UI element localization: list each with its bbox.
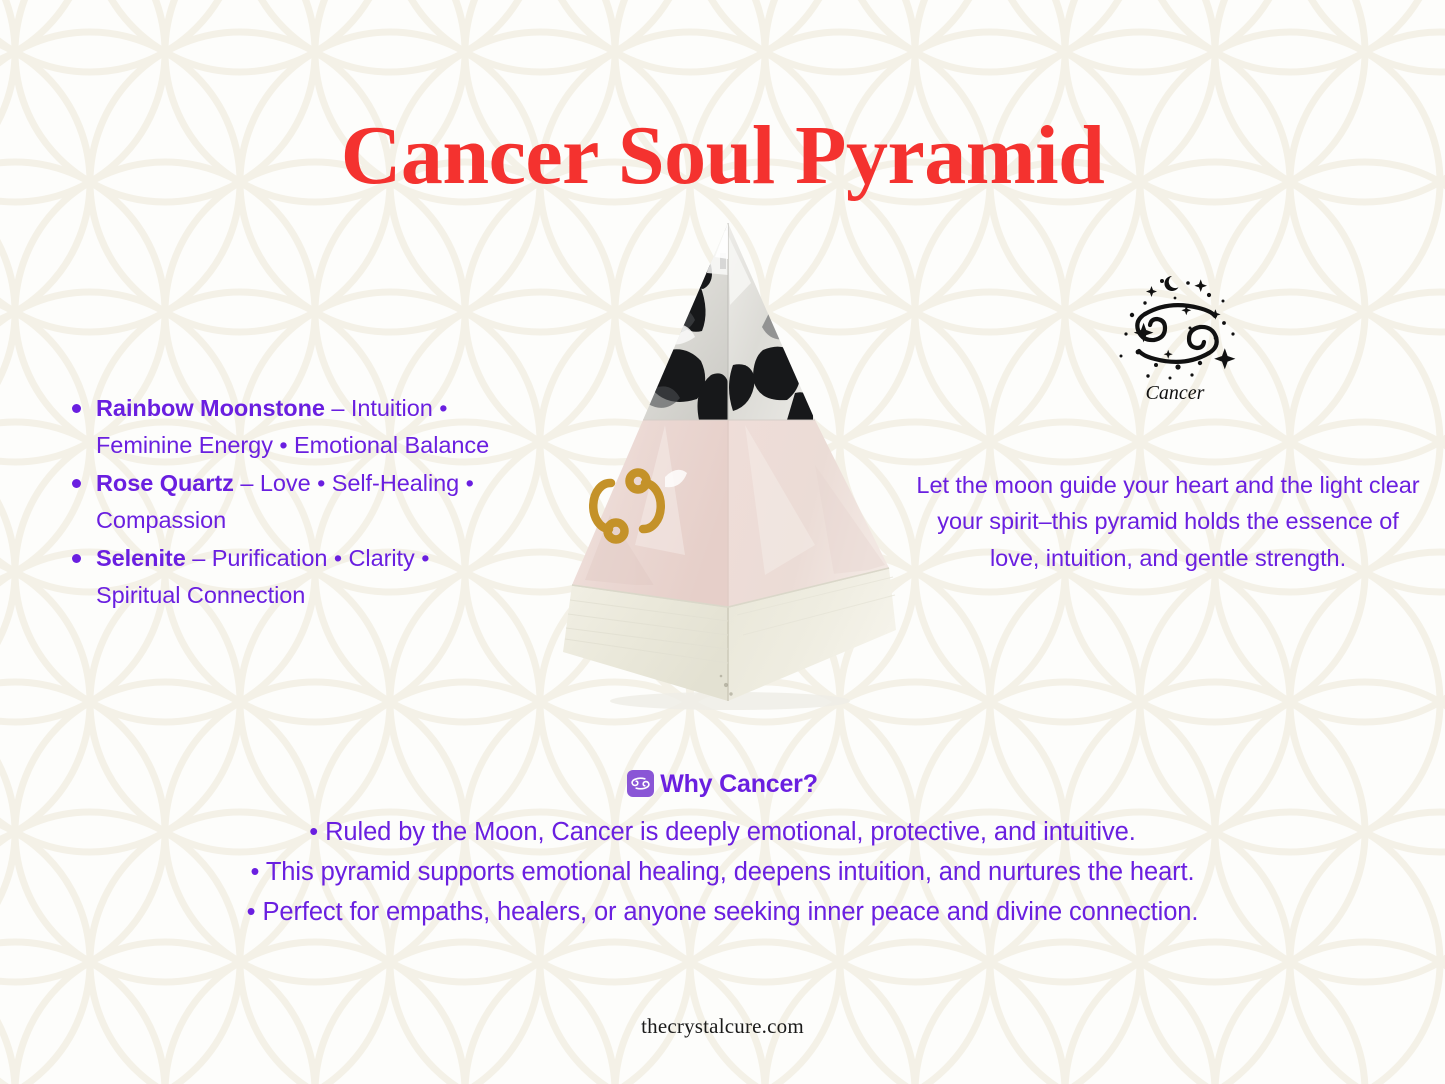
intro-paragraph: Let the moon guide your heart and the li… bbox=[910, 467, 1426, 577]
poster-canvas: Cancer Soul Pyramid Rainbow Moonstone – … bbox=[0, 0, 1445, 1084]
crystal-name: Rose Quartz bbox=[96, 470, 234, 496]
pyramid-product-photo bbox=[515, 215, 945, 720]
crystal-name: Rainbow Moonstone bbox=[96, 395, 325, 421]
list-item: • Ruled by the Moon, Cancer is deeply em… bbox=[130, 812, 1315, 852]
list-item: Selenite – Purification • Clarity • Spir… bbox=[62, 540, 514, 613]
rainbow-moonstone-apex bbox=[643, 223, 815, 420]
footer-website: thecrystalcure.com bbox=[0, 1014, 1445, 1039]
cancer-zodiac-badge-icon bbox=[627, 770, 654, 797]
list-item: • Perfect for empaths, healers, or anyon… bbox=[130, 892, 1315, 932]
list-item: Rainbow Moonstone – Intuition • Feminine… bbox=[62, 390, 514, 463]
list-item: • This pyramid supports emotional healin… bbox=[130, 852, 1315, 892]
cancer-zodiac-icon: Cancer bbox=[1104, 268, 1246, 406]
why-cancer-points: • Ruled by the Moon, Cancer is deeply em… bbox=[130, 812, 1315, 932]
why-cancer-label: Why Cancer? bbox=[660, 770, 818, 798]
crystal-name: Selenite bbox=[96, 545, 186, 571]
list-item: Rose Quartz – Love • Self-Healing • Comp… bbox=[62, 465, 514, 538]
why-cancer-heading: Why Cancer? bbox=[0, 770, 1445, 799]
crystal-properties-list: Rainbow Moonstone – Intuition • Feminine… bbox=[62, 390, 514, 615]
zodiac-sign-label: Cancer bbox=[1146, 382, 1205, 404]
page-title: Cancer Soul Pyramid bbox=[0, 112, 1445, 200]
crescent-moon-icon bbox=[1164, 276, 1178, 291]
